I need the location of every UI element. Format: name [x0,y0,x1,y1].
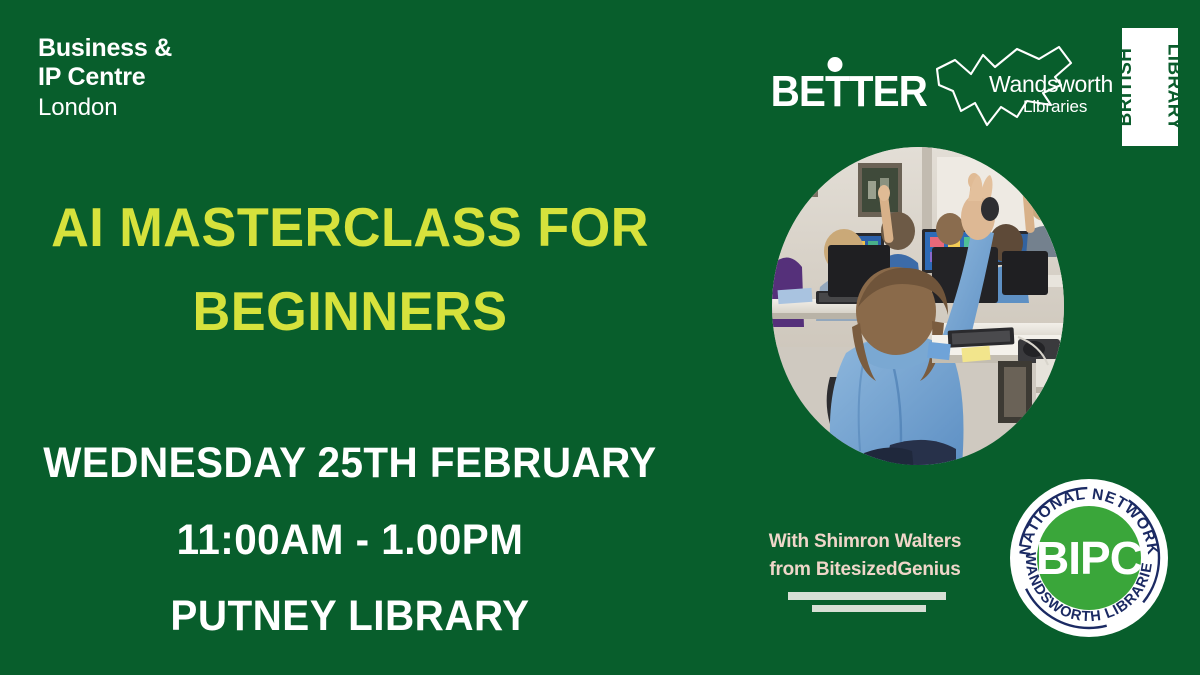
redaction-bar-lower [812,605,926,612]
wandsworth-logo-sublabel: Libraries [1023,97,1087,117]
redaction-bar-upper [788,592,946,600]
partner-logo-row: BETTER Wandsworth Libraries BRITISH LIBR… [765,28,1178,146]
wordmark-line-business: Business & [38,34,172,63]
british-library-word-library: LIBRARY [1163,44,1178,131]
better-logo: BETTER [765,47,905,127]
poster-headline: AI MASTERCLASS FOR BEGINNERS [0,186,700,353]
event-details: WEDNESDAY 25TH FEBRUARY 11:00AM - 1.00PM… [0,425,700,655]
bipc-national-network-roundel: NATIONAL NETWORK WANDSWORTH LIBRARIES BI… [1008,477,1170,639]
event-poster: Business & IP Centre London BETTER Wands… [0,0,1200,675]
bipc-london-wordmark: Business & IP Centre London [38,34,172,122]
headline-line-2: BEGINNERS [18,270,683,354]
better-logo-label: BETTER [771,67,900,117]
speaker-credit-line-2: from BitesizedGenius [769,559,960,580]
event-venue: PUTNEY LIBRARY [21,578,679,655]
roundel-center-text: BIPC [1036,532,1142,584]
wordmark-line-ip-centre: IP Centre [38,63,172,92]
classroom-photo-illustration [772,147,1064,465]
event-date: WEDNESDAY 25TH FEBRUARY [21,425,679,502]
roundel-svg: NATIONAL NETWORK WANDSWORTH LIBRARIES BI… [1008,477,1170,639]
event-time: 11:00AM - 1.00PM [21,502,679,579]
speaker-credit: With Shimron Walters from BitesizedGeniu… [740,528,990,583]
british-library-word-british: BRITISH [1122,48,1137,127]
classroom-photo [772,147,1064,465]
wordmark-line-london: London [38,94,172,122]
wandsworth-logo-label: Wandsworth [989,71,1113,98]
headline-line-1: AI MASTERCLASS FOR [18,186,683,270]
speaker-credit-line-1: With Shimron Walters [769,531,962,552]
british-library-logo: BRITISH LIBRARY [1122,28,1178,146]
wandsworth-libraries-logo: Wandsworth Libraries [931,41,1096,133]
